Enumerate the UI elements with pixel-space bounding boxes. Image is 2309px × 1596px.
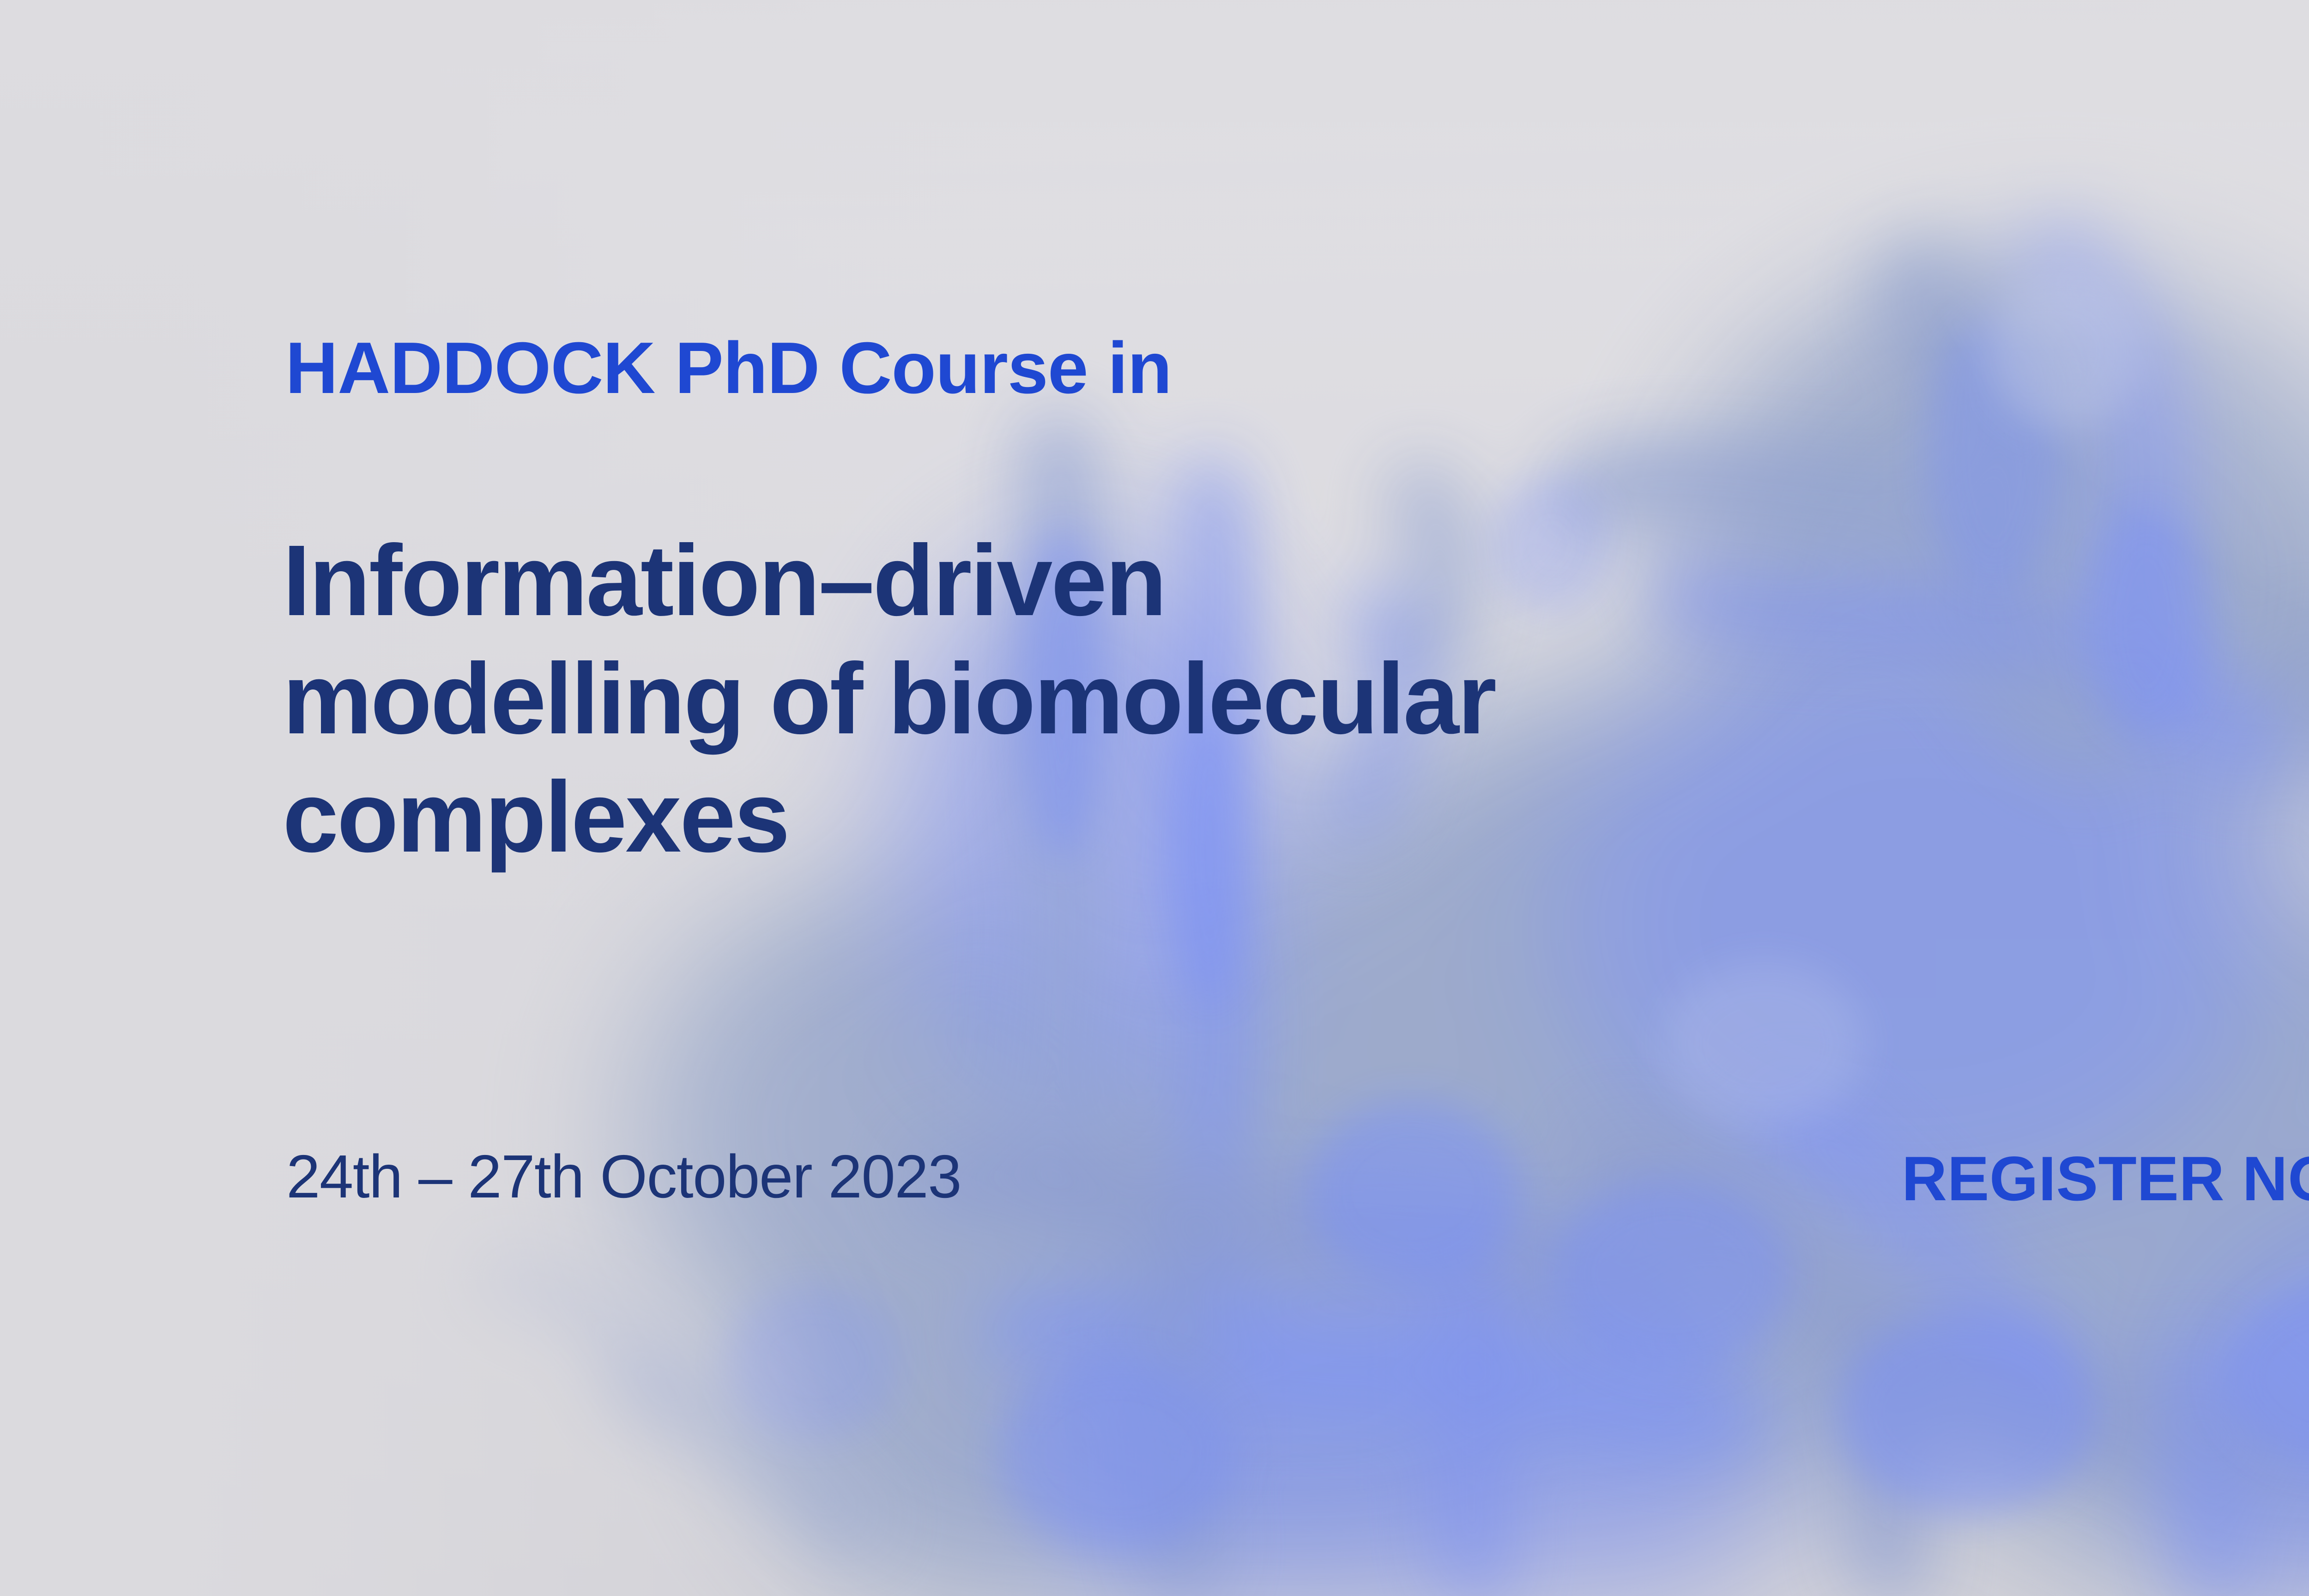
register-now-button[interactable]: REGISTER NOW! <box>1902 1147 2309 1210</box>
course-promo-banner: HADDOCK PhD Course in Information–driven… <box>0 0 2309 1596</box>
banner-content: HADDOCK PhD Course in Information–driven… <box>0 0 2309 1596</box>
headline-line-2: modelling of biomolecular <box>283 640 1495 758</box>
page-title: Information–driven modelling of biomolec… <box>283 522 1495 877</box>
course-dates: 24th – 27th October 2023 <box>286 1146 961 1207</box>
headline-line-1: Information–driven <box>283 522 1495 640</box>
headline-line-3: complexes <box>283 758 1495 877</box>
course-eyebrow: HADDOCK PhD Course in <box>285 332 1172 405</box>
